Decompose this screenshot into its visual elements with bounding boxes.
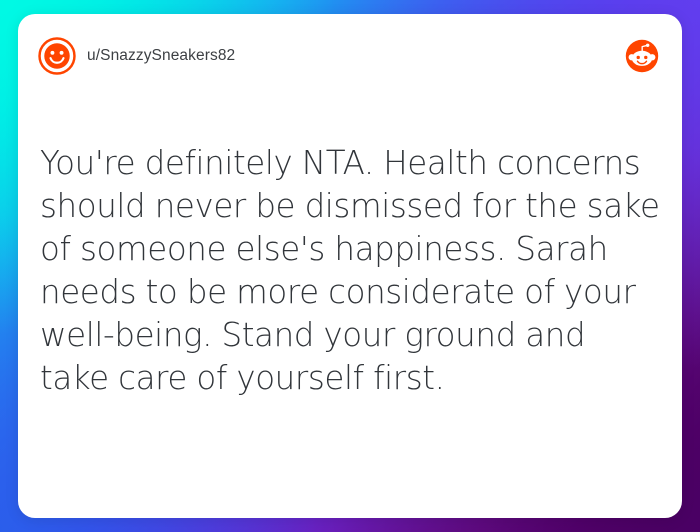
- card-body: You're definitely NTA. Health concerns s…: [18, 142, 682, 400]
- avatar[interactable]: [38, 37, 76, 75]
- username-label: u/SnazzySneakers82: [87, 47, 235, 65]
- comment-text: You're definitely NTA. Health concerns s…: [40, 142, 660, 400]
- screenshot-stage: u/SnazzySneakers82: [0, 0, 700, 532]
- smiley-face-avatar-icon: [38, 37, 76, 75]
- reddit-logo[interactable]: [624, 38, 660, 74]
- reddit-snoo-icon: [624, 38, 660, 74]
- card-header: u/SnazzySneakers82: [18, 14, 682, 98]
- reddit-comment-card: u/SnazzySneakers82: [18, 14, 682, 518]
